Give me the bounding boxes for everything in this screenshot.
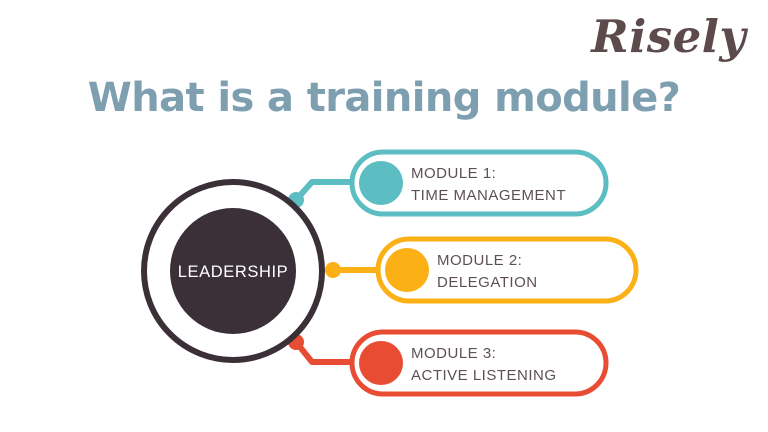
module-card-3-index: MODULE 3: bbox=[411, 345, 496, 362]
hub-label: LEADERSHIP bbox=[178, 263, 289, 281]
module-card-1[interactable]: MODULE 1: TIME MANAGEMENT bbox=[352, 152, 606, 214]
module-card-2-index: MODULE 2: bbox=[437, 252, 522, 269]
slide-canvas: Risely What is a training module? LEADER… bbox=[0, 0, 768, 432]
module-card-3-bullet-icon bbox=[359, 341, 403, 385]
training-module-diagram: LEADERSHIP MODULE 1: TIME MANAGEMENT MOD… bbox=[0, 130, 768, 432]
hub-leadership[interactable]: LEADERSHIP bbox=[144, 182, 322, 360]
module-card-1-name: TIME MANAGEMENT bbox=[411, 187, 566, 204]
module-card-2[interactable]: MODULE 2: DELEGATION bbox=[378, 239, 636, 301]
module-card-1-bullet-icon bbox=[359, 161, 403, 205]
risely-logo: Risely bbox=[591, 14, 746, 59]
connector-module-1 bbox=[288, 182, 360, 208]
module-card-2-name: DELEGATION bbox=[437, 274, 538, 291]
module-card-2-bullet-icon bbox=[385, 248, 429, 292]
connector-module-3 bbox=[288, 334, 360, 362]
module-card-3-name: ACTIVE LISTENING bbox=[411, 367, 557, 384]
page-title: What is a training module? bbox=[0, 78, 768, 118]
connector-module-2-node bbox=[325, 262, 341, 278]
module-card-3[interactable]: MODULE 3: ACTIVE LISTENING bbox=[352, 332, 606, 394]
module-card-1-index: MODULE 1: bbox=[411, 165, 496, 182]
